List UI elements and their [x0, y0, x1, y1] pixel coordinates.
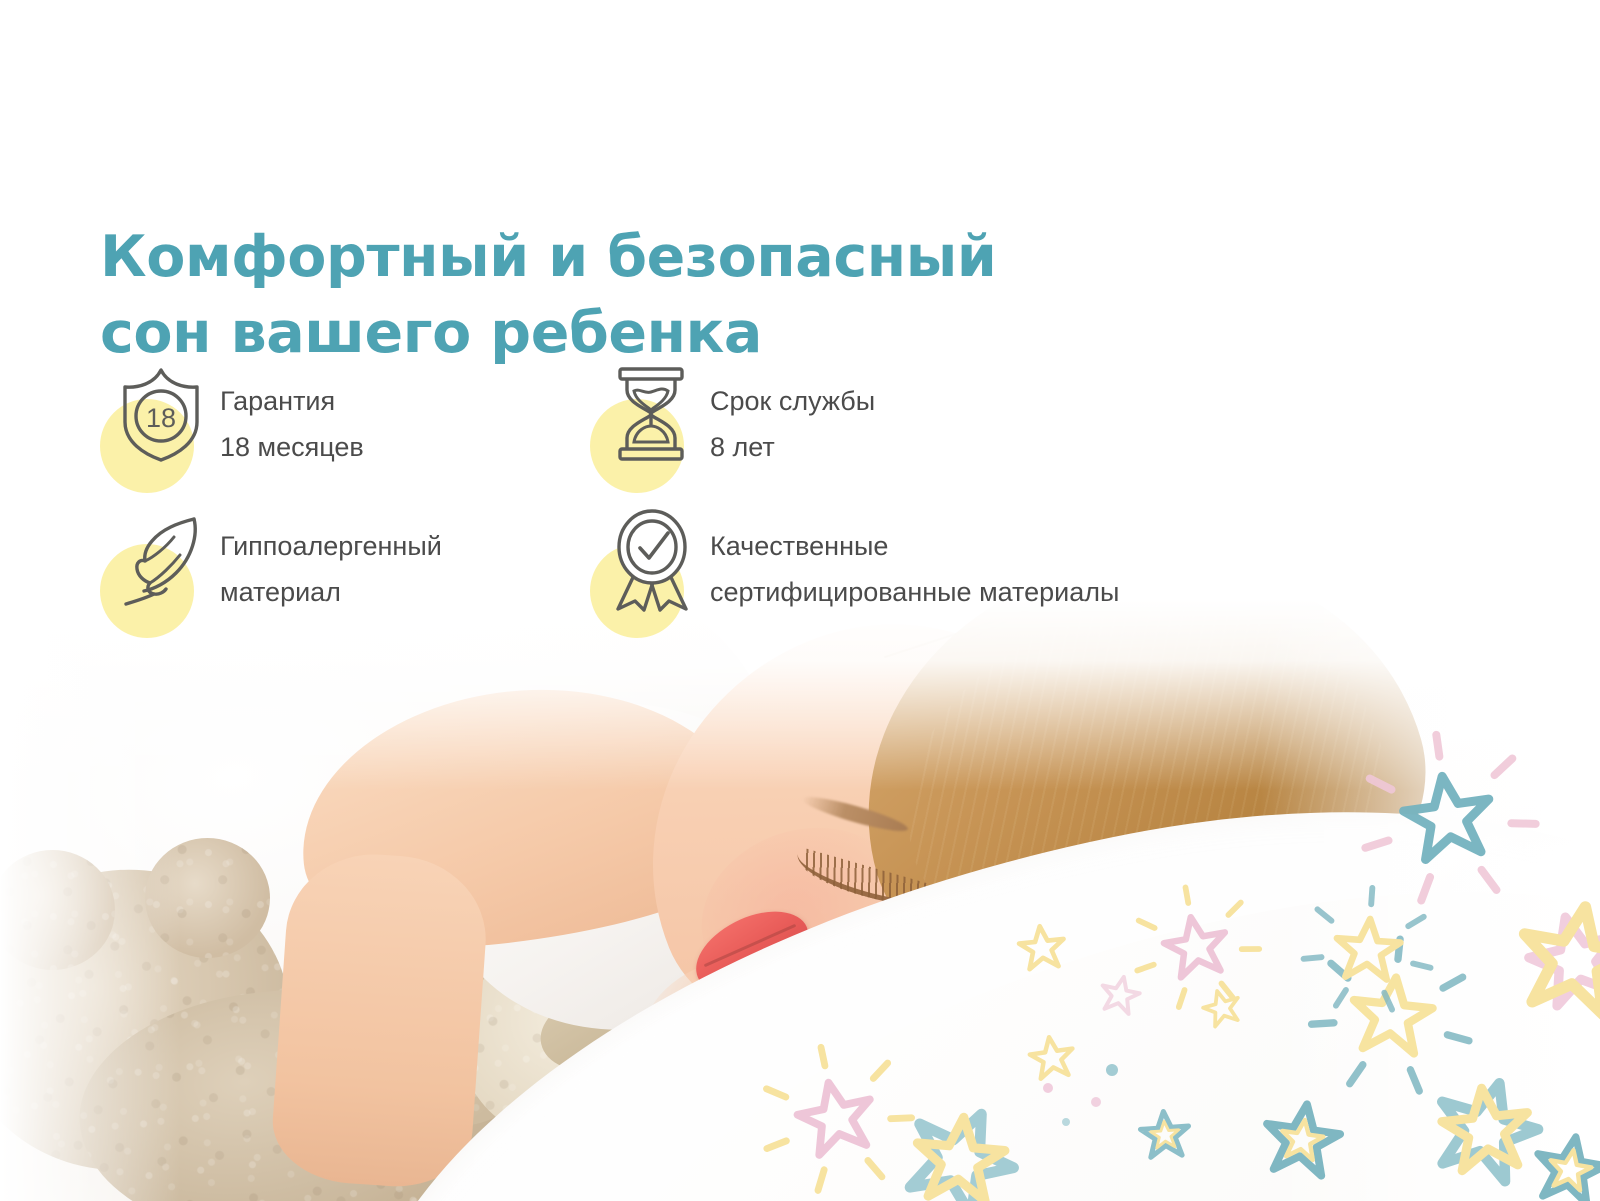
promo-banner: Комфортный и безопасный сон вашего ребен… — [0, 0, 1600, 1201]
feature-certified: Качественные сертифицированные материалы — [590, 507, 1390, 632]
award-medal-icon-wrap — [590, 507, 710, 632]
photo-fade-left — [0, 600, 180, 1201]
feather-icon — [118, 509, 208, 609]
hourglass-icon-wrap — [590, 362, 710, 487]
child-forearm — [269, 848, 492, 1191]
feature-warranty-text: Гарантия 18 месяцев — [220, 362, 364, 471]
page-title: Комфортный и безопасный сон вашего ребен… — [100, 220, 996, 372]
sleeping-child-photo — [0, 600, 1600, 1201]
feature-hypoallergenic: Гиппоалергенный материал — [100, 507, 590, 632]
feature-hypoallergenic-text: Гиппоалергенный материал — [220, 507, 442, 616]
shield-badge-number: 18 — [146, 403, 176, 433]
photo-fade-right — [1260, 600, 1600, 1201]
feature-warranty: 18 Гарантия 18 месяцев — [100, 362, 590, 487]
award-medal-icon — [608, 509, 698, 613]
shield-18-icon: 18 — [118, 364, 204, 464]
feature-certified-text: Качественные сертифицированные материалы — [710, 507, 1119, 616]
feature-lifespan: Срок службы 8 лет — [590, 362, 1290, 487]
feature-lifespan-text: Срок службы 8 лет — [710, 362, 875, 471]
shield-18-icon-wrap: 18 — [100, 362, 220, 487]
hourglass-icon — [608, 364, 694, 464]
feather-icon-wrap — [100, 507, 220, 632]
